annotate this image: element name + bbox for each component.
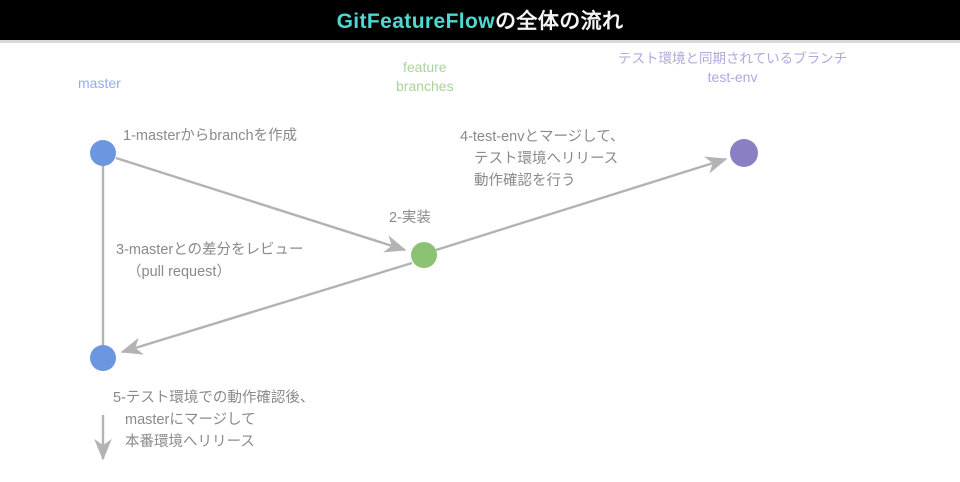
node-test-env [730,139,758,167]
node-feature [411,242,437,268]
note-step-3: 3-masterとの差分をレビュー （pull request） [116,240,304,284]
lane-label-master-text: master [78,75,121,91]
note-step-1-line-1: 1-masterからbranchを作成 [123,126,297,148]
note-step-4-line-1: 4-test-envとマージして、 [460,127,625,149]
lane-label-master: master [78,74,121,93]
note-step-2-line-1: 2-実装 [389,208,431,230]
note-step-2: 2-実装 [389,208,431,230]
page-title: GitFeatureFlowの全体の流れ [337,5,624,35]
note-step-4-line-2: テスト環境へリリース [460,149,625,171]
page-title-main: の全体の流れ [495,10,623,33]
lane-label-test-env: テスト環境と同期されているブランチ test-env [618,50,847,87]
node-master-top [90,140,116,166]
lane-label-feature-branches: feature branches [396,58,454,96]
node-master-bottom [90,345,116,371]
note-step-1: 1-masterからbranchを作成 [123,126,297,148]
page-title-accent: GitFeatureFlow [337,10,495,33]
lane-label-feature-line2: branches [396,77,454,96]
note-step-5-line-3: 本番環境へリリース [113,432,314,454]
note-step-3-line-2: （pull request） [116,262,304,284]
note-step-4: 4-test-envとマージして、 テスト環境へリリース 動作確認を行う [460,127,625,192]
lane-label-feature-line1: feature [396,58,454,77]
note-step-5-line-2: masterにマージして [113,410,314,432]
slide-canvas: GitFeatureFlowの全体の流れ master feature bran… [0,0,960,482]
note-step-5-line-1: 5-テスト環境での動作確認後、 [113,388,314,410]
note-step-4-line-3: 動作確認を行う [460,171,625,193]
slide-title-bar: GitFeatureFlowの全体の流れ [0,0,960,40]
note-step-3-line-1: 3-masterとの差分をレビュー [116,240,304,262]
edge-master-to-feature [116,158,405,250]
note-step-5: 5-テスト環境での動作確認後、 masterにマージして 本番環境へリリース [113,388,314,453]
lane-label-test-env-line2: test-env [618,68,847,87]
lane-label-test-env-line1: テスト環境と同期されているブランチ [618,50,847,68]
